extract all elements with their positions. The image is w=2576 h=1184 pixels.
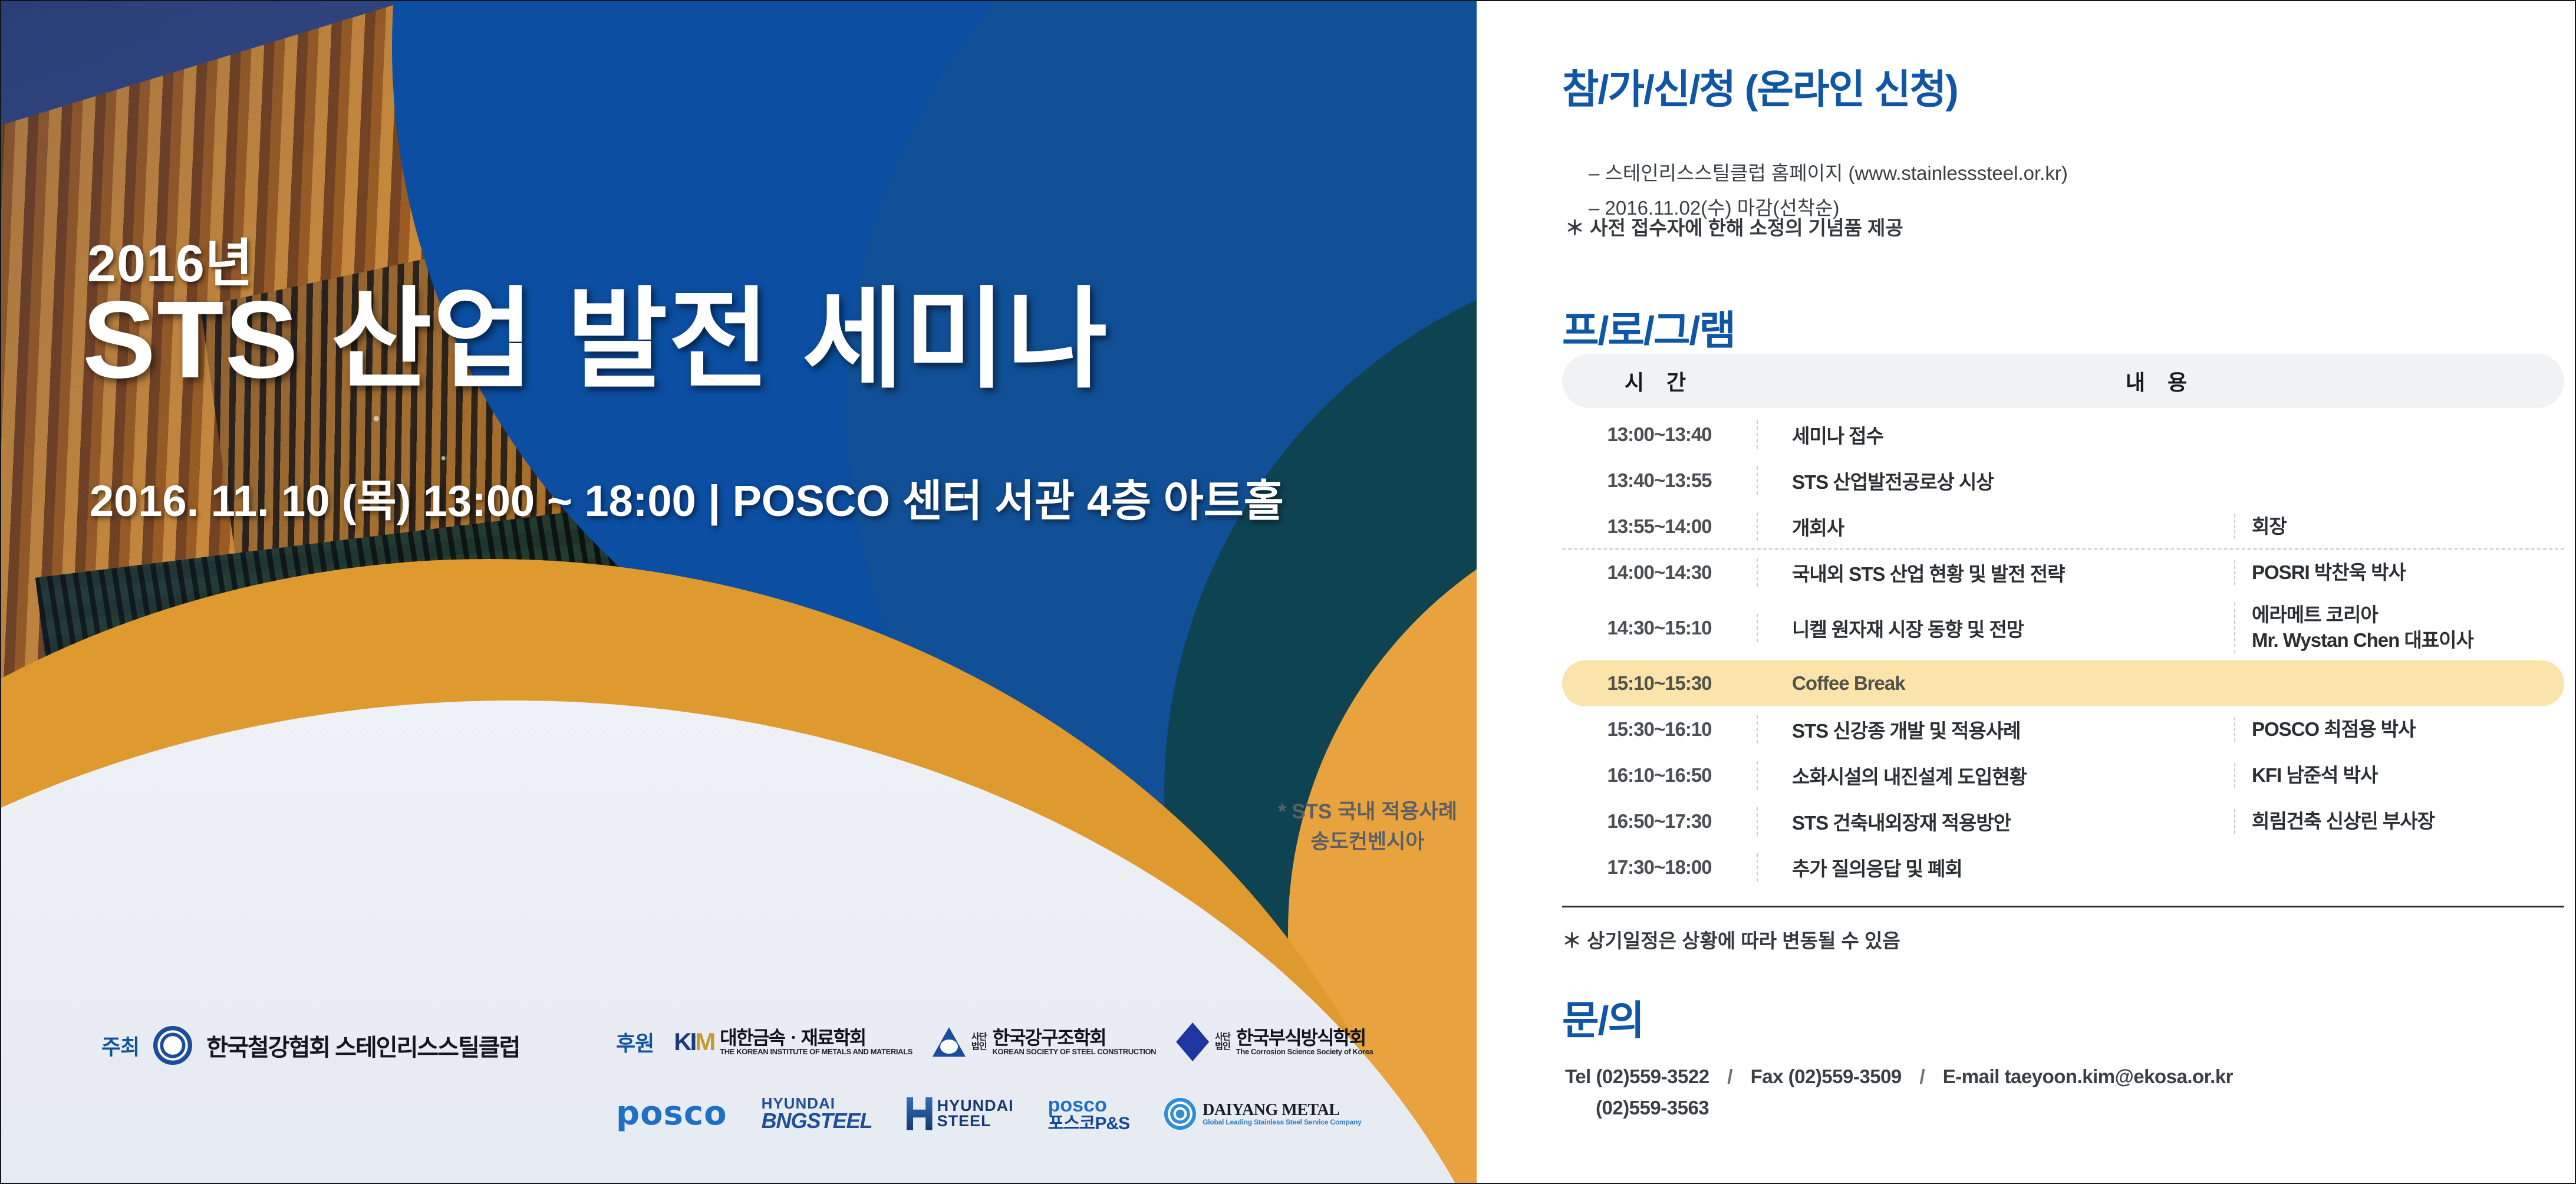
column-header-content: 내 용 <box>1757 366 2564 396</box>
logo-kssc: 사단법인 한국강구조학회 KOREAN SOCIETY OF STEEL CON… <box>933 1027 1156 1057</box>
cell-topic: Coffee Break <box>1757 672 2234 695</box>
contact-separator-2: / <box>1906 1065 1938 1087</box>
section-heading-contact: 문/의 <box>1562 988 1643 1046</box>
kssc-triangle-icon <box>933 1027 966 1057</box>
tel-secondary-value: (02)559-3563 <box>1565 1093 2233 1124</box>
cell-topic: 추가 질의응답 및 폐회 <box>1757 853 2234 882</box>
table-row: 14:00~14:30 국내외 STS 산업 현황 및 발전 전략 POSRI … <box>1562 550 2564 596</box>
cell-person: POSCO 최점용 박사 <box>2234 717 2564 742</box>
organizer-row: 주최 한국철강협회 스테인리스스틸클럽 <box>101 1026 519 1065</box>
fax-label: Fax <box>1751 1065 1783 1087</box>
program-table: 시 간 내 용 13:00~13:40 세미나 접수 13:40~13:55 S… <box>1562 354 2564 953</box>
column-header-time: 시 간 <box>1562 366 1757 396</box>
table-row: 16:50~17:30 STS 건축내외장재 적용방안 희림건축 신상린 부사장 <box>1562 798 2564 844</box>
hyundai-bottom-word: STEEL <box>937 1114 1014 1129</box>
organizer-kicker: 주최 <box>101 1030 139 1061</box>
cell-time: 14:30~15:10 <box>1562 617 1757 639</box>
cssk-english-name: The Corrosion Science Society of Korea <box>1236 1048 1373 1055</box>
cell-topic: STS 신강종 개발 및 적용사례 <box>1757 715 2234 744</box>
poster-title: STS 산업 발전 세미나 <box>83 283 1109 397</box>
contact-separator-1: / <box>1714 1065 1745 1087</box>
fax-value: (02)559-3509 <box>1788 1065 1902 1087</box>
cell-time: 16:50~17:30 <box>1562 810 1757 833</box>
cell-person: 에라메트 코리아 Mr. Wystan Chen 대표이사 <box>2234 603 2564 653</box>
cell-time: 15:30~16:10 <box>1562 718 1757 741</box>
cell-time: 15:10~15:30 <box>1562 672 1757 695</box>
logo-posco: posco <box>616 1094 727 1133</box>
kssc-entity-prefix: 사단법인 <box>971 1032 987 1051</box>
daiyang-name: DAIYANG METAL <box>1203 1101 1362 1119</box>
supporter-row: 후원 KIM 대한금속ㆍ재료학회 THE KOREAN INSTITUTE OF… <box>616 1022 1373 1061</box>
section-heading-apply: 참/가/신/청 (온라인 신청) <box>1562 57 1958 115</box>
cell-person: KFI 남준석 박사 <box>2234 763 2564 788</box>
kssc-english-name: KOREAN SOCIETY OF STEEL CONSTRUCTION <box>993 1048 1157 1055</box>
daiyang-tagline: Global Leading Stainless Steel Service C… <box>1203 1119 1362 1126</box>
table-row: 15:30~16:10 STS 신강종 개발 및 적용사례 POSCO 최점용 … <box>1562 706 2564 752</box>
steel-association-seal-icon <box>153 1026 192 1065</box>
cell-topic: 세미나 접수 <box>1757 420 2234 449</box>
program-footnote: ＊ 상기일정은 상황에 따라 변동될 수 있음 <box>1562 925 2564 953</box>
cell-time: 14:00~14:30 <box>1562 561 1757 584</box>
cssk-entity-prefix: 사단법인 <box>1215 1032 1230 1051</box>
cell-topic: STS 산업발전공로상 시상 <box>1757 466 2234 495</box>
table-row: 17:30~18:00 추가 질의응답 및 폐회 <box>1562 844 2564 890</box>
hyundai-top-word: HYUNDAI <box>937 1099 1014 1114</box>
hyundai-h-icon <box>907 1097 933 1130</box>
kim-english-name: THE KOREAN INSTITUTE OF METALS AND MATER… <box>720 1048 913 1055</box>
logo-cssk: 사단법인 한국부식방식학회 The Corrosion Science Soci… <box>1176 1022 1373 1061</box>
seminar-poster: 2016년 STS 산업 발전 세미나 2016. 11. 10 (목) 13:… <box>0 0 2576 1184</box>
logo-hyundai-bng-steel: HYUNDAI BNGSTEEL <box>762 1096 872 1131</box>
cell-topic: 니켈 원자재 시장 동향 및 전망 <box>1757 614 2234 642</box>
daiyang-target-icon <box>1164 1097 1197 1130</box>
supporter-kicker: 후원 <box>616 1027 654 1057</box>
cell-topic: STS 건축내외장재 적용방안 <box>1757 807 2234 836</box>
table-bottom-rule <box>1562 906 2564 907</box>
organizer-name: 한국철강협회 스테인리스스틸클럽 <box>206 1028 519 1063</box>
table-row: 13:40~13:55 STS 산업발전공로상 시상 <box>1562 458 2564 504</box>
program-table-header: 시 간 내 용 <box>1562 354 2564 408</box>
logo-daiyang-metal: DAIYANG METAL Global Leading Stainless S… <box>1164 1097 1362 1130</box>
cell-topic: 국내외 STS 산업 현황 및 발전 전략 <box>1757 558 2234 587</box>
poster-info-panel: 참/가/신/청 (온라인 신청) – 스테인리스스틸클럽 홈페이지 (www.s… <box>1477 0 2576 1184</box>
hyundai-steel-text: HYUNDAI STEEL <box>937 1099 1014 1129</box>
table-row: 14:30~15:10 니켈 원자재 시장 동향 및 전망 에라메트 코리아 M… <box>1562 596 2564 660</box>
pns-top-word: posco <box>1048 1095 1130 1115</box>
table-row: 13:00~13:40 세미나 접수 <box>1562 412 2564 458</box>
table-row: 16:10~16:50 소화시설의 내진설계 도입현황 KFI 남준석 박사 <box>1562 752 2564 798</box>
cell-time: 13:55~14:00 <box>1562 515 1757 538</box>
cell-time: 13:00~13:40 <box>1562 423 1757 446</box>
daiyang-text: DAIYANG METAL Global Leading Stainless S… <box>1203 1101 1362 1126</box>
email-label: E-mail <box>1943 1065 1999 1087</box>
tel-value: (02)559-3522 <box>1596 1065 1709 1087</box>
cell-person: 회장 <box>2234 514 2564 540</box>
bng-bottom-word: BNGSTEEL <box>762 1111 872 1131</box>
kssc-korean-name: 한국강구조학회 KOREAN SOCIETY OF STEEL CONSTRUC… <box>993 1028 1157 1055</box>
sponsor-bar: 주최 한국철강협회 스테인리스스틸클럽 후원 KIM 대한금속ㆍ재료학회 THE… <box>0 995 1477 1184</box>
apply-note: ＊ 사전 접수자에 한해 소정의 기념품 제공 <box>1565 212 1903 241</box>
cell-time: 16:10~16:50 <box>1562 764 1757 787</box>
contact-details: Tel (02)559-3522 / Fax (02)559-3509 / E-… <box>1565 1061 2233 1124</box>
cell-time: 13:40~13:55 <box>1562 469 1757 492</box>
cell-person: 희림건축 신상린 부사장 <box>2234 809 2564 834</box>
corporate-logo-row: posco HYUNDAI BNGSTEEL HYUNDAI STEEL pos… <box>616 1094 1362 1133</box>
section-heading-program: 프/로/그/램 <box>1562 298 1735 356</box>
poster-subtitle: 2016. 11. 10 (목) 13:00 ~ 18:00 | POSCO 센… <box>90 466 1284 529</box>
cell-person: POSRI 박찬욱 박사 <box>2234 560 2564 586</box>
cssk-diamond-icon <box>1176 1022 1209 1061</box>
table-row-coffee-break: 15:10~15:30 Coffee Break <box>1562 660 2564 706</box>
kim-korean-name: 대한금속ㆍ재료학회 THE KOREAN INSTITUTE OF METALS… <box>720 1028 913 1055</box>
cssk-korean-name: 한국부식방식학회 The Corrosion Science Society o… <box>1236 1028 1373 1055</box>
cell-topic: 소화시설의 내진설계 도입현황 <box>1757 761 2234 790</box>
kim-monogram-icon: KIM <box>674 1028 714 1056</box>
logo-posco-pns: posco 포스코P&S <box>1048 1095 1130 1133</box>
cell-time: 17:30~18:00 <box>1562 856 1757 879</box>
pns-bottom-word: 포스코P&S <box>1048 1115 1130 1133</box>
cell-topic: 개회사 <box>1757 512 2234 541</box>
photo-caption: * STS 국내 적용사례 송도컨벤시아 <box>1267 797 1468 857</box>
table-row: 13:55~14:00 개회사 회장 <box>1562 504 2564 550</box>
tel-label: Tel <box>1565 1065 1591 1087</box>
apply-bullet-homepage: – 스테인리스스틸클럽 홈페이지 (www.stainlesssteel.or.… <box>1589 156 2068 191</box>
email-value[interactable]: taeyoon.kim@ekosa.or.kr <box>2005 1065 2234 1087</box>
logo-hyundai-steel: HYUNDAI STEEL <box>907 1097 1014 1130</box>
logo-kim: KIM 대한금속ㆍ재료학회 THE KOREAN INSTITUTE OF ME… <box>674 1028 913 1056</box>
program-table-body: 13:00~13:40 세미나 접수 13:40~13:55 STS 산업발전공… <box>1562 408 2564 890</box>
poster-visual-panel: 2016년 STS 산업 발전 세미나 2016. 11. 10 (목) 13:… <box>0 0 1477 1184</box>
